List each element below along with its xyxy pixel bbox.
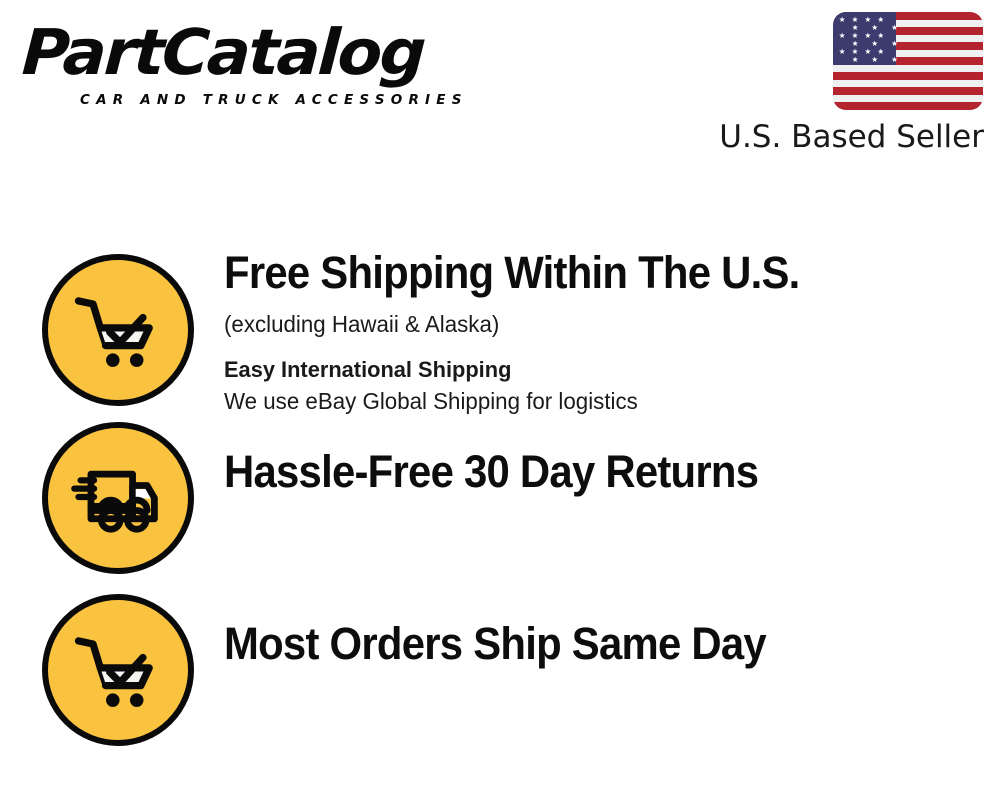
flag-star: ★ (891, 24, 898, 32)
flag-canton: ★★★★★★★★★★★★★★★★★★★★★ (833, 12, 896, 65)
flag-star: ★ (877, 32, 884, 40)
flag-star: ★ (891, 56, 898, 64)
flag-stripe (833, 72, 983, 80)
benefit-heading: Free Shipping Within The U.S. (224, 247, 946, 299)
benefit-text-block: Hassle-Free 30 Day Returns (194, 418, 1000, 498)
flag-star: ★ (852, 56, 859, 64)
flag-star: ★ (865, 48, 872, 56)
flag-star: ★ (877, 48, 884, 56)
cart-check-icon (42, 254, 194, 406)
brand-logo: PartCatalog CAR AND TRUCK ACCESSORIES (24, 20, 494, 115)
benefit-heading: Hassle-Free 30 Day Returns (224, 446, 946, 498)
benefit-row: Most Orders Ship Same Day (0, 590, 1000, 762)
brand-wordmark: PartCatalog (20, 20, 508, 86)
us-flag-icon: ★★★★★★★★★★★★★★★★★★★★★ (833, 12, 983, 110)
benefit-text-block: Free Shipping Within The U.S. (excluding… (194, 243, 1000, 416)
flag-star: ★ (891, 40, 898, 48)
flag-star: ★ (839, 48, 846, 56)
banner-header: PartCatalog CAR AND TRUCK ACCESSORIES ★★… (0, 0, 1000, 175)
benefit-text-block: Most Orders Ship Same Day (194, 590, 1000, 670)
benefit-row: Hassle-Free 30 Day Returns (0, 418, 1000, 590)
flag-star: ★ (865, 32, 872, 40)
flag-stripe (833, 80, 983, 88)
seller-label: U.S. Based Seller (719, 118, 984, 156)
flag-stripe (833, 102, 983, 110)
delivery-truck-icon (42, 422, 194, 574)
benefit-subtext-international-title: Easy International Shipping (224, 355, 977, 385)
benefit-row: Free Shipping Within The U.S. (excluding… (0, 243, 1000, 418)
flag-star: ★ (839, 32, 846, 40)
cart-check-icon (42, 594, 194, 746)
brand-tagline: CAR AND TRUCK ACCESSORIES (80, 92, 468, 108)
seller-badge: ★★★★★★★★★★★★★★★★★★★★★ U.S. Based Seller (716, 12, 986, 162)
benefit-subtext-logistics: We use eBay Global Shipping for logistic… (224, 386, 977, 416)
flag-star: ★ (871, 56, 878, 64)
benefit-heading: Most Orders Ship Same Day (224, 618, 946, 670)
benefit-subtext-exclusions: (excluding Hawaii & Alaska) (224, 309, 977, 339)
flag-stripe (833, 87, 983, 95)
flag-star: ★ (877, 16, 884, 24)
flag-stripe (833, 95, 983, 103)
flag-star: ★ (865, 16, 872, 24)
flag-star: ★ (839, 16, 846, 24)
flag-stripe (833, 65, 983, 73)
